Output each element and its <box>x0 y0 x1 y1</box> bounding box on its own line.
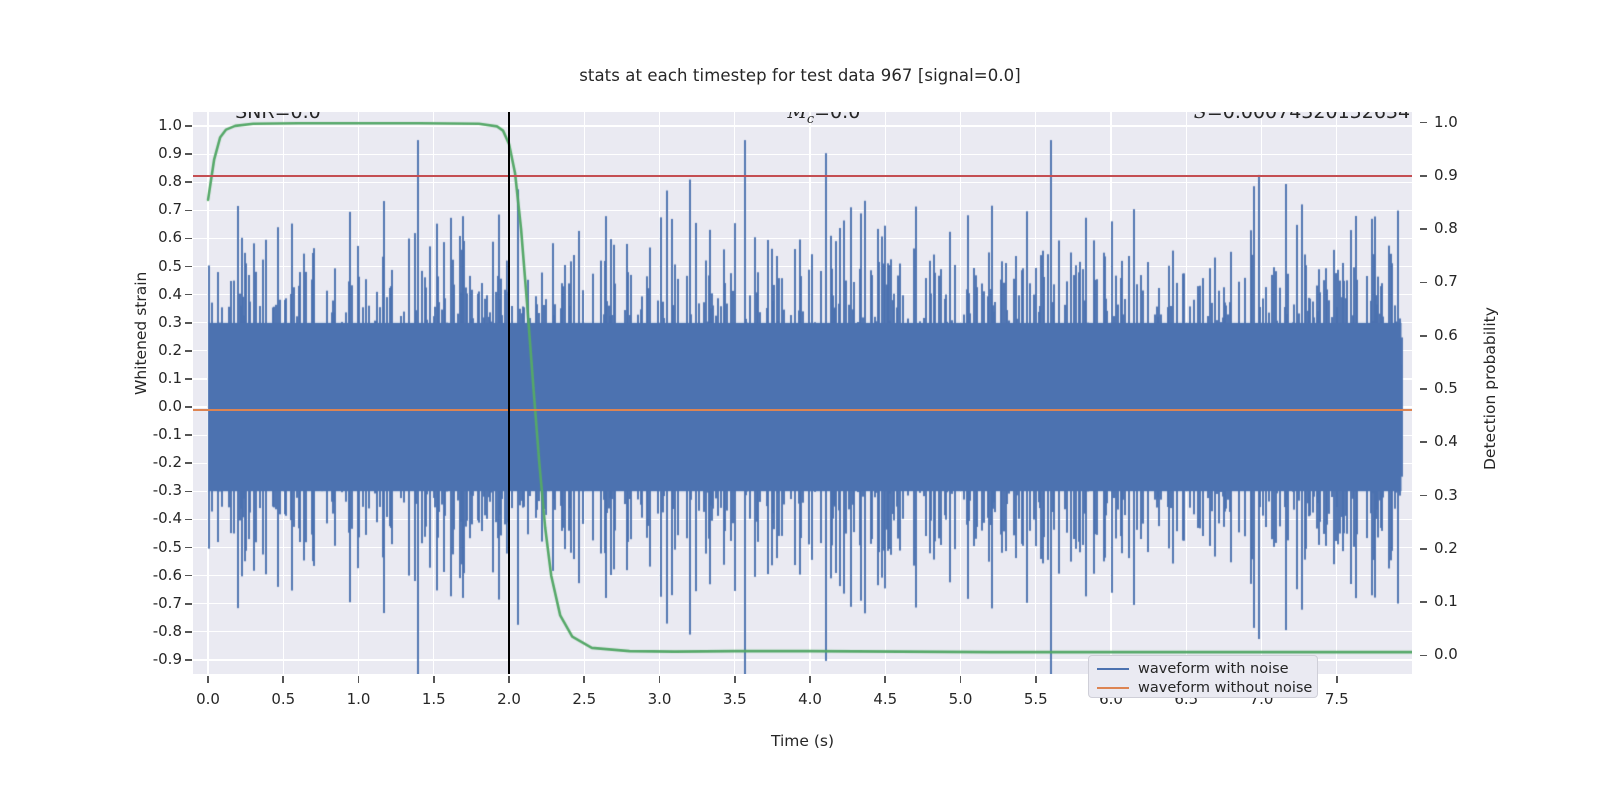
chart-title: stats at each timestep for test data 967… <box>0 66 1600 85</box>
y-tick-label-right: 0.7 <box>1434 272 1458 290</box>
y-tick-mark-left <box>185 406 192 408</box>
x-tick-label: 4.5 <box>873 690 897 708</box>
y-tick-mark-right <box>1420 655 1427 657</box>
y-tick-label-left: -0.9 <box>153 650 182 668</box>
y-tick-mark-left <box>185 266 192 268</box>
x-tick-label: 4.0 <box>798 690 822 708</box>
y-tick-label-left: 0.5 <box>158 257 182 275</box>
x-tick-label: 1.5 <box>422 690 446 708</box>
y-tick-label-right: 1.0 <box>1434 113 1458 131</box>
y-tick-mark-right <box>1420 441 1427 443</box>
y-tick-label-left: 0.8 <box>158 172 182 190</box>
x-axis-label: Time (s) <box>771 732 834 750</box>
x-tick-mark <box>508 676 510 683</box>
x-tick-mark <box>1035 676 1037 683</box>
x-tick-label: 2.0 <box>497 690 521 708</box>
y-tick-label-right: 0.3 <box>1434 486 1458 504</box>
x-tick-label: 5.0 <box>949 690 973 708</box>
legend-label: waveform without noise <box>1138 680 1312 696</box>
x-tick-mark <box>659 676 661 683</box>
y-tick-label-left: -0.8 <box>153 622 182 640</box>
y-tick-label-left: -0.1 <box>153 425 182 443</box>
score-symbol: S <box>1194 112 1207 123</box>
y-tick-mark-left <box>185 631 192 633</box>
x-tick-mark <box>358 676 360 683</box>
annotation-score: S=0.0007432015263475478 <box>1194 112 1412 123</box>
detection-probability-series <box>193 112 1412 674</box>
y-tick-mark-left <box>185 125 192 127</box>
x-tick-label: 3.0 <box>648 690 672 708</box>
x-tick-mark <box>583 676 585 683</box>
figure-canvas: stats at each timestep for test data 967… <box>0 0 1600 800</box>
y-tick-mark-left <box>185 491 192 493</box>
annotation-snr: SNR=0.0 <box>235 112 321 123</box>
y-tick-mark-right <box>1420 601 1427 603</box>
y-tick-mark-left <box>185 294 192 296</box>
x-tick-mark <box>207 676 209 683</box>
waveform-without-noise-line <box>193 409 1412 411</box>
legend-label: waveform with noise <box>1138 661 1289 677</box>
y-tick-label-right: 0.6 <box>1434 326 1458 344</box>
y-tick-label-left: 0.7 <box>158 200 182 218</box>
snr-prefix: SNR= <box>235 112 290 123</box>
y-tick-mark-right <box>1420 388 1427 390</box>
x-tick-mark <box>884 676 886 683</box>
legend-color-swatch <box>1097 668 1129 671</box>
y-tick-label-left: -0.6 <box>153 566 182 584</box>
x-tick-label: 3.5 <box>723 690 747 708</box>
y-tick-mark-right <box>1420 548 1427 550</box>
merger-time-line <box>508 112 511 674</box>
y-axis-right-label: Detection probability <box>1481 307 1499 470</box>
y-tick-label-left: 1.0 <box>158 116 182 134</box>
y-tick-mark-left <box>185 153 192 155</box>
y-tick-mark-right <box>1420 335 1427 337</box>
y-tick-label-left: -0.4 <box>153 509 182 527</box>
y-tick-mark-left <box>185 181 192 183</box>
y-tick-mark-left <box>185 210 192 212</box>
x-tick-label: 5.5 <box>1024 690 1048 708</box>
y-tick-mark-right <box>1420 495 1427 497</box>
y-tick-mark-left <box>185 378 192 380</box>
y-tick-label-right: 0.0 <box>1434 645 1458 663</box>
y-tick-mark-left <box>185 434 192 436</box>
annotation-chirp-mass: Mc=0.0 <box>787 112 860 126</box>
legend[interactable]: waveform with noisewaveform without nois… <box>1088 655 1318 698</box>
y-tick-mark-left <box>185 603 192 605</box>
y-tick-mark-left <box>185 547 192 549</box>
x-tick-mark <box>960 676 962 683</box>
y-tick-mark-left <box>185 519 192 521</box>
x-tick-mark <box>809 676 811 683</box>
x-tick-label: 7.5 <box>1325 690 1349 708</box>
y-tick-label-right: 0.1 <box>1434 592 1458 610</box>
y-tick-label-right: 0.4 <box>1434 432 1458 450</box>
score-value: =0.0007432015263475478 <box>1207 112 1412 123</box>
y-tick-mark-right <box>1420 175 1427 177</box>
x-tick-mark <box>734 676 736 683</box>
y-tick-label-left: 0.2 <box>158 341 182 359</box>
y-tick-mark-right <box>1420 228 1427 230</box>
x-tick-label: 2.5 <box>572 690 596 708</box>
snr-value: 0.0 <box>291 112 321 123</box>
y-tick-label-left: -0.3 <box>153 481 182 499</box>
y-tick-mark-left <box>185 462 192 464</box>
x-tick-mark <box>282 676 284 683</box>
y-tick-mark-left <box>185 238 192 240</box>
y-tick-label-right: 0.2 <box>1434 539 1458 557</box>
legend-item[interactable]: waveform with noise <box>1097 660 1309 678</box>
y-tick-mark-left <box>185 322 192 324</box>
y-tick-label-left: -0.5 <box>153 538 182 556</box>
y-tick-label-left: 0.4 <box>158 285 182 303</box>
y-tick-label-left: 0.1 <box>158 369 182 387</box>
y-tick-label-left: -0.7 <box>153 594 182 612</box>
detection-threshold-line <box>193 175 1412 177</box>
chirp-mass-value: =0.0 <box>814 112 860 123</box>
y-tick-mark-left <box>185 575 192 577</box>
y-tick-mark-left <box>185 350 192 352</box>
x-tick-mark <box>433 676 435 683</box>
y-tick-label-left: 0.9 <box>158 144 182 162</box>
y-tick-label-right: 0.5 <box>1434 379 1458 397</box>
y-tick-label-left: 0.6 <box>158 228 182 246</box>
plot-area[interactable]: SNR=0.0 Mc=0.0 S=0.0007432015263475478 <box>193 112 1412 674</box>
chirp-mass-symbol: M <box>787 112 806 123</box>
x-tick-mark <box>1336 676 1338 683</box>
y-tick-mark-right <box>1420 122 1427 124</box>
x-tick-label: 0.5 <box>271 690 295 708</box>
x-tick-label: 1.0 <box>347 690 371 708</box>
legend-color-swatch <box>1097 687 1129 690</box>
legend-item[interactable]: waveform without noise <box>1097 679 1309 697</box>
y-tick-label-left: 0.3 <box>158 313 182 331</box>
x-tick-label: 0.0 <box>196 690 220 708</box>
y-axis-left-label: Whitened strain <box>132 272 150 395</box>
y-tick-label-left: -0.2 <box>153 453 182 471</box>
y-tick-label-right: 0.8 <box>1434 219 1458 237</box>
y-tick-mark-left <box>185 659 192 661</box>
y-tick-label-left: 0.0 <box>158 397 182 415</box>
y-tick-label-right: 0.9 <box>1434 166 1458 184</box>
y-tick-mark-right <box>1420 282 1427 284</box>
